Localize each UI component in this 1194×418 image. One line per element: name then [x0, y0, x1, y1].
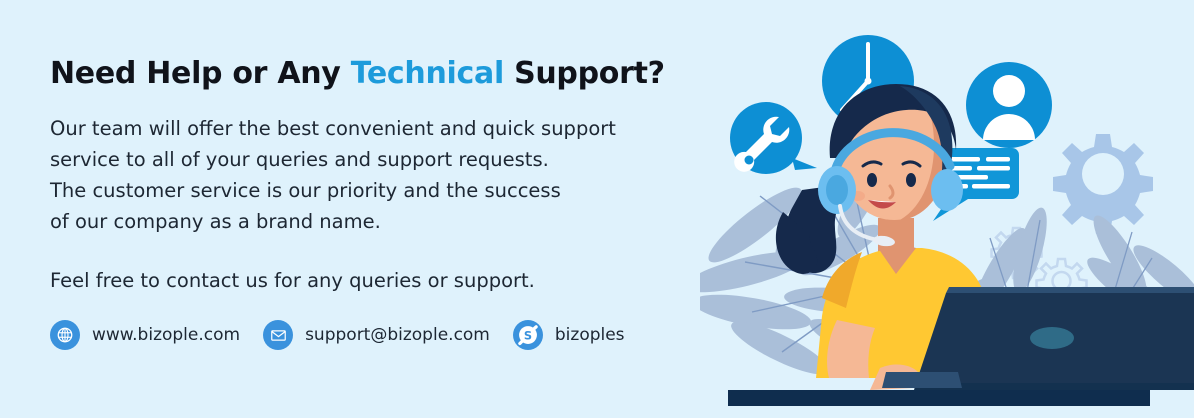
contact-item-website[interactable]: www.bizople.com — [50, 320, 240, 350]
description-paragraph: Our team will offer the best convenient … — [50, 113, 740, 237]
desk — [728, 390, 1150, 406]
contact-item-skype[interactable]: S bizoples — [513, 320, 625, 350]
headline-part1: Need Help or Any — [50, 56, 351, 91]
wrench-speech-bubble-icon — [730, 102, 817, 174]
headline-accent: Technical — [351, 56, 504, 91]
support-banner: Need Help or Any Technical Support? Our … — [0, 0, 1194, 418]
skype-label: bizoples — [555, 325, 625, 345]
contact-row: www.bizople.com support@bizople.com S bi… — [50, 320, 625, 350]
description-line: service to all of your queries and suppo… — [50, 144, 740, 175]
description-line: of our company as a brand name. — [50, 206, 740, 237]
globe-icon — [50, 320, 80, 350]
email-label: support@bizople.com — [305, 325, 490, 345]
person-avatar-icon — [966, 62, 1052, 148]
page-title: Need Help or Any Technical Support? — [50, 56, 740, 91]
content-block: Need Help or Any Technical Support? Our … — [50, 56, 740, 296]
call-to-action-text: Feel free to contact us for any queries … — [50, 265, 740, 296]
website-label: www.bizople.com — [92, 325, 240, 345]
description-line: The customer service is our priority and… — [50, 175, 740, 206]
contact-item-email[interactable]: support@bizople.com — [263, 320, 490, 350]
svg-text:S: S — [524, 328, 532, 342]
envelope-icon — [263, 320, 293, 350]
skype-icon: S — [513, 320, 543, 350]
description-line: Our team will offer the best convenient … — [50, 113, 740, 144]
headline-part2: Support? — [504, 56, 665, 91]
customer-support-agent-illustration — [700, 0, 1194, 418]
